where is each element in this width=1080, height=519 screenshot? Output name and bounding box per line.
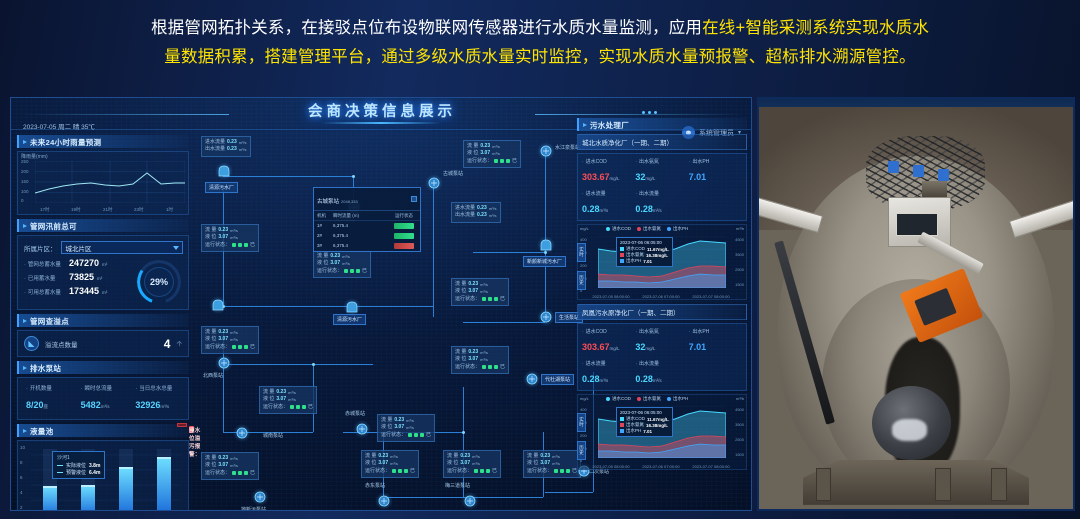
tag-status-key: 运行状态： — [455, 364, 480, 371]
pipe-stats-wrap: 管网总蓄水量 247270 m³ 已用蓄水量 73825 m³ 可用总蓄水量 1… — [18, 257, 188, 309]
node-pump[interactable] — [215, 354, 233, 372]
table-row[interactable]: 1# 6,375.4 — [314, 221, 420, 231]
right-panel: 污水处理厂 城北水质净化厂（一期、二期） 进水COD 303.67mg/L 出水… — [577, 118, 747, 505]
bar-cap — [43, 486, 57, 488]
chart-ytick: 400 — [580, 407, 587, 412]
status-leds — [482, 365, 498, 369]
tag-unit: m³/s — [230, 456, 238, 462]
node-plant[interactable] — [215, 162, 233, 180]
pump-station-card: 开机数量 8/20座 瞬时总流量 5482m³/s 当日总水总量 32926m³… — [17, 377, 189, 420]
tooltip-title: 沙河1 — [57, 454, 100, 461]
tag-row: 液 位 3.07 m³/s — [205, 336, 255, 343]
inout-flow-tag[interactable]: 进水流量 0.23 m³/s 出水流量 0.23 m³/s — [201, 136, 251, 157]
gauge-value: 29% — [144, 267, 174, 297]
flow-tag[interactable]: 流 量 0.23 m³/s 液 位 3.07 m³/s 运行状态： 已 — [313, 250, 371, 278]
tooltip-value: 7.01 — [643, 259, 652, 264]
tag-unit: m³/s — [492, 144, 500, 150]
tag-status-extra: 已 — [308, 404, 313, 411]
kpi-value: 0.28 — [635, 374, 653, 384]
chart-ytick-right: 4500 — [735, 237, 744, 242]
tag-status-extra: 已 — [500, 296, 505, 303]
section-header-node: 管网查溢点 — [17, 314, 189, 327]
chart-ylabel: mg/L — [580, 226, 589, 231]
kpi-cell: 进水流量 0.28m³/s — [582, 190, 635, 217]
status-badge[interactable]: 液水位溢污报警： 2 座 — [177, 423, 187, 427]
cell-id: 1# — [317, 223, 333, 230]
kpi-cell: 进水流量 0.28m³/s — [582, 360, 635, 387]
tag-status-row: 运行状态： 已 — [467, 158, 517, 165]
tag-status-key: 运行状态： — [381, 432, 406, 439]
pump-stat: 瞬时总流量 5482m³/s — [76, 384, 131, 413]
tag-unit: m³/s — [406, 418, 414, 424]
tooltip-value: 6.4m — [89, 470, 100, 476]
tag-row: 液 位 3.07 m³/s — [317, 260, 367, 267]
bar-ytick-6: 4 — [20, 490, 23, 495]
field-photo-manhole-sensor — [757, 97, 1075, 511]
tag-value: 3.07 — [276, 396, 286, 403]
chart-ylabel: mg/L — [580, 396, 589, 401]
overflow-label: 溢流点数量 — [45, 339, 158, 349]
status-leds — [232, 345, 248, 349]
region-selector-row: 所属片区： 城北片区 — [18, 236, 188, 257]
link — [473, 252, 545, 253]
rain-ytick-1: 200 — [21, 169, 29, 174]
tag-value: 0.23 — [477, 205, 487, 212]
node-plant[interactable] — [537, 236, 555, 254]
wwtp-area-chart: 进水COD 出水氨氮 出水PH mg/L m³/h 400 300 200 10… — [577, 224, 747, 300]
cell-status — [391, 233, 417, 240]
mounting-bracket — [922, 181, 947, 197]
tag-value: 3.07 — [480, 150, 490, 157]
tag-unit: m³/s — [489, 213, 497, 219]
rain-ytick-0: 250 — [21, 159, 29, 164]
kpi-cell: 出水流量 0.28m³/s — [635, 190, 688, 217]
pump-stats: 开机数量 8/20座 瞬时总流量 5482m³/s 当日总水总量 32926m³… — [18, 378, 188, 419]
tag-value: 0.23 — [468, 281, 478, 288]
cable-connector — [888, 161, 899, 173]
tag-value: 3.07 — [394, 424, 404, 431]
tag-status-row: 运行状态： 已 — [455, 364, 505, 371]
chart-tooltip: 2023-07-06 06:05:00 进水COD11.67mg/L 出水氨氮1… — [616, 237, 673, 267]
cell-id: 3# — [317, 243, 333, 250]
rain-chart-svg — [35, 161, 185, 203]
pump-value: 8/20 — [26, 400, 44, 410]
section-header-rain: 未来24小时雨量预测 — [17, 135, 189, 148]
tag-unit: m³/s — [230, 337, 238, 343]
flow-tag[interactable]: 流 量 0.23 m³/s 液 位 3.07 m³/s 运行状态： 已 — [361, 450, 419, 478]
kpi-unit: m³/s — [600, 208, 609, 213]
pipe-network-topology: 进水流量 0.23 m³/s 出水流量 0.23 m³/s 清源污水厂 月洞泵站… — [193, 132, 575, 504]
legend-swatch — [57, 472, 63, 473]
tag-status-extra: 已 — [250, 242, 255, 249]
inout-flow-tag[interactable]: 进水流量 0.23 m³/s 出水流量 0.23 m³/s — [451, 202, 501, 223]
tooltip-value: 11.67mg/L — [647, 417, 669, 422]
tag-key: 液 位 — [527, 460, 538, 467]
kpi-value: 303.67 — [582, 172, 610, 182]
chart-xtick: 2023-07-07 08:00:00 — [690, 294, 732, 299]
status-leds — [232, 471, 248, 475]
tag-row: 出水流量 0.23 m³/s — [205, 146, 247, 153]
kpi-row-top: 进水COD 303.67mg/L 出水氨氮 32mg/L 出水PH 7.01 — [582, 328, 742, 355]
bar-ytick-8: 2 — [20, 505, 23, 510]
cell-status — [391, 243, 417, 250]
node-pump[interactable] — [375, 492, 393, 510]
tag-value: 0.23 — [330, 253, 340, 260]
pump-detail-table[interactable]: 古城泵站2048.333 机机 瞬时流量 (m) 运行状态 1# 6,375.4… — [313, 187, 421, 252]
chart-ytick-right: 3500 — [735, 252, 744, 257]
stat-value: 73825 — [69, 272, 94, 282]
node-label-pump: 古城泵站 — [443, 170, 463, 177]
tag-value: 3.07 — [218, 234, 228, 241]
tag-status-extra: 已 — [500, 364, 505, 371]
flow-tag[interactable]: 流 量 0.23 m³/s 液 位 3.07 m³/s 运行状态： 已 — [201, 224, 259, 252]
bar-fill — [81, 485, 95, 511]
rain-ytick-3: 100 — [21, 189, 29, 194]
tooltip-title: 2023-07-06 06:05:00 — [620, 240, 669, 245]
tooltip-name: 预警液位 — [66, 469, 86, 476]
table-title: 古城泵站 — [317, 199, 339, 205]
caption-line-1-white: 根据管网拓扑关系，在接驳点位布设物联网传感器进行水质水量监测，应用 — [151, 19, 702, 37]
tag-status-row: 运行状态： 已 — [205, 470, 255, 477]
caption-line-2: 量数据积累，搭建管理平台，通过多级水质水量实时监控，实现水质水量预报警、超标排水… — [18, 43, 1062, 72]
flow-tag[interactable]: 流 量 0.23 m³/s 液 位 3.07 m³/s 运行状态： 已 — [451, 278, 509, 306]
pipe-stats-list: 管网总蓄水量 247270 m³ 已用蓄水量 73825 m³ 可用总蓄水量 1… — [24, 258, 137, 304]
chart-tab-history[interactable]: 历史 — [577, 441, 586, 460]
pump-value: 5482 — [81, 400, 101, 410]
caption-line-1-yellow: 在线+智能采测系统实现水质水 — [702, 19, 929, 37]
rain-xtick-1: 19时 — [71, 207, 81, 213]
water-level-card: 10 8 6 4 2 0 — [17, 440, 189, 511]
tag-key: 液 位 — [263, 396, 274, 403]
tag-status-row: 运行状态： 已 — [263, 404, 313, 411]
tag-unit: m³/s — [230, 463, 238, 469]
rain-forecast-card: 降雨量(mm) 250 200 150 100 0 — [17, 151, 189, 215]
kpi-row-bottom: 进水流量 0.28m³/s 出水流量 0.28m³/s — [582, 190, 742, 217]
junction-dot — [352, 175, 355, 178]
bar-cap — [119, 467, 133, 469]
kpi-unit: m³/s — [653, 208, 662, 213]
dashboard-screen: 会商决策信息展示 ☻ 系统管理员 ▾ 2023-07-05 周二 晴 35℃ 未… — [10, 97, 752, 511]
chart-tab-realtime[interactable]: 实时 — [577, 243, 586, 262]
region-label: 所属片区： — [24, 243, 57, 253]
status-leds — [494, 159, 510, 163]
kpi-value: 0.28 — [635, 204, 653, 214]
pump-stat: 开机数量 8/20座 — [21, 384, 76, 413]
tag-value: 0.23 — [218, 455, 228, 462]
status-leds — [232, 243, 248, 247]
caption-line-1: 根据管网拓扑关系，在接驳点位布设物联网传感器进行水质水量监测，应用在线+智能采测… — [18, 14, 1062, 43]
tag-value: 0.23 — [227, 146, 237, 153]
legend-item[interactable]: 出水氨氮 — [637, 226, 661, 232]
kpi-cell: 进水COD 303.67mg/L — [582, 158, 635, 185]
legend-item[interactable]: 出水氨氮 — [637, 396, 661, 402]
kpi-cell: 出水PH 7.01 — [689, 328, 742, 355]
stat-unit: m³ — [102, 290, 107, 295]
tag-status-key: 运行状态： — [205, 470, 230, 477]
chart-xtick: 2023-07-05 08:00:00 — [590, 464, 632, 469]
chart-ytick: 400 — [580, 237, 587, 242]
tooltip-value: 3.8m — [89, 463, 100, 469]
column-header: 运行状态 — [391, 213, 417, 219]
tag-value: 0.23 — [477, 212, 487, 219]
table-row[interactable]: 2# 6,375.4 — [314, 231, 420, 241]
legend-swatch — [620, 417, 624, 421]
tooltip-row: 出水PH7.01 — [620, 258, 669, 264]
kpi-unit: mg/L — [645, 176, 655, 181]
tag-status-row: 运行状态： 已 — [447, 468, 497, 475]
status-leds — [290, 405, 306, 409]
legend-swatch — [620, 253, 624, 257]
legend-item[interactable]: 进水COD — [606, 226, 631, 232]
tag-unit: m³/s — [406, 425, 414, 431]
table-subtitle: 2048.333 — [341, 199, 358, 204]
tag-key: 液 位 — [455, 288, 466, 295]
kpi-key: 进水流量 — [582, 190, 635, 197]
wwtp-title: 城北水质净化厂（一期、二期） — [577, 134, 747, 150]
node-plant[interactable] — [343, 298, 361, 316]
flow-tag[interactable]: 流 量 0.23 m³/s 液 位 3.07 m³/s 运行状态： 已 — [523, 450, 581, 478]
chart-legend: 进水COD 出水氨氮 出水PH — [606, 396, 688, 402]
flow-tag[interactable]: 流 量 0.23 m³/s 液 位 3.07 m³/s 运行状态： 已 — [377, 414, 435, 442]
cell-flow: 6,375.4 — [333, 233, 391, 240]
column-header: 机机 — [317, 213, 333, 219]
tag-row: 液 位 3.07 m³/s — [467, 150, 517, 157]
tag-status-extra: 已 — [426, 432, 431, 439]
pump-key: 当日总水总量 — [135, 384, 185, 392]
link — [463, 387, 464, 497]
node-pump[interactable] — [233, 424, 251, 442]
rain-ytick-5: 0 — [21, 198, 24, 203]
section-header-pipe: 管网汛前总可 — [17, 219, 189, 232]
rain-xtick-3: 23时 — [134, 207, 144, 213]
ledge-bar — [935, 468, 951, 501]
status-leds — [408, 433, 424, 437]
tag-key: 液 位 — [455, 356, 466, 363]
node-pump[interactable] — [537, 308, 555, 326]
rain-ytick-2: 150 — [21, 179, 29, 184]
status-pill — [394, 233, 414, 239]
tag-status-extra: 已 — [362, 268, 367, 275]
kpi-cell: 出水PH 7.01 — [689, 158, 742, 185]
chevron-down-icon — [173, 246, 179, 250]
flow-tag[interactable]: 流 量 0.23 m³/s 液 位 3.07 m³/s 运行状态： 已 — [201, 452, 259, 480]
chart-legend: 进水COD 出水氨氮 出水PH — [606, 226, 688, 232]
kpi-value: 303.67 — [582, 342, 610, 352]
chart-tab-history[interactable]: 历史 — [577, 271, 586, 290]
flow-tag[interactable]: 流 量 0.23 m³/s 液 位 3.07 m³/s 运行状态： 已 — [201, 326, 259, 354]
legend-swatch — [620, 247, 624, 251]
kpi-cell: 出水氨氮 32mg/L — [635, 158, 688, 185]
ledge-bar — [816, 468, 832, 501]
close-icon[interactable] — [411, 196, 417, 202]
tag-row: 液 位 3.07 m³/s — [455, 356, 505, 363]
tag-value: 0.23 — [480, 143, 490, 150]
kpi-key: 出水流量 — [635, 360, 688, 367]
tag-status-key: 运行状态： — [263, 404, 288, 411]
node-label-pump: 梅三道泵站 — [445, 482, 470, 489]
legend-swatch — [620, 429, 624, 433]
tag-unit: m³/s — [552, 461, 560, 467]
tag-unit: m³/s — [552, 454, 560, 460]
kpi-unit: mg/L — [645, 346, 655, 351]
tag-key: 液 位 — [205, 462, 216, 469]
tooltip-value: 16.38mg/L — [646, 253, 668, 258]
section-header-pump: 排水泵站 — [17, 361, 189, 374]
legend-item[interactable]: 出水PH — [667, 396, 688, 402]
legend-item[interactable]: 进水COD — [606, 396, 631, 402]
tooltip-value: 11.67mg/L — [647, 247, 669, 252]
stat-row: 已用蓄水量 73825 m³ — [24, 272, 137, 282]
tag-row: 液 位 3.07 m³/s — [205, 234, 255, 241]
level-bar-chart: 10 8 6 4 2 0 — [18, 441, 188, 511]
tag-key: 液 位 — [447, 460, 458, 467]
tag-status-key: 运行状态： — [317, 268, 342, 275]
overflow-node-card: ◣ 溢流点数量 4 个 — [17, 330, 189, 357]
stat-row: 管网总蓄水量 247270 m³ — [24, 258, 137, 268]
node-label-pump: 地新污泵站 — [241, 506, 266, 511]
tag-unit: m³/s — [480, 289, 488, 295]
status-leds — [474, 469, 490, 473]
bar-column[interactable] — [157, 447, 171, 511]
tag-value: 3.07 — [540, 460, 550, 467]
cell-flow: 6,375.4 — [333, 243, 391, 250]
tag-key: 出水流量 — [205, 146, 225, 153]
tooltip-row: 出水PH7.01 — [620, 428, 669, 434]
tag-unit: m³/s — [390, 461, 398, 467]
tag-value: 0.23 — [394, 417, 404, 424]
stat-value: 173445 — [69, 286, 99, 296]
chart-ytick: 200 — [580, 263, 587, 268]
chart-xtick: 2023-07-06 07:00:00 — [640, 464, 682, 469]
bar-column[interactable] — [119, 447, 133, 511]
tag-unit: m³/s — [492, 151, 500, 157]
tag-value: 3.07 — [330, 260, 340, 267]
tag-unit: m³/s — [288, 397, 296, 403]
table-row[interactable]: 3# 6,375.4 — [314, 241, 420, 251]
tooltip-title: 2023-07-06 06:05:00 — [620, 410, 669, 415]
cell-status — [391, 223, 417, 230]
tag-key: 液 位 — [467, 150, 478, 157]
stat-value: 247270 — [69, 258, 99, 268]
tag-row: 液 位 3.07 m³/s — [455, 288, 505, 295]
tag-key: 液 位 — [205, 234, 216, 241]
stat-key: 可用总蓄水量 — [24, 288, 66, 296]
region-select[interactable]: 城北片区 — [61, 241, 184, 254]
tag-value: 0.23 — [378, 453, 388, 460]
drop-icon: ◣ — [24, 336, 39, 351]
tag-value: 3.07 — [378, 460, 388, 467]
flow-tag[interactable]: 流 量 0.23 m³/s 液 位 3.07 m³/s 运行状态： 已 — [443, 450, 501, 478]
node-pump[interactable] — [461, 492, 479, 510]
tag-row: 液 位 3.07 m³/s — [205, 462, 255, 469]
node-plant[interactable] — [209, 296, 227, 314]
capacity-gauge: 29% — [137, 260, 181, 304]
tag-status-row: 运行状态： 已 — [205, 242, 255, 249]
tag-status-key: 运行状态： — [205, 344, 230, 351]
kpi-key: 出水氨氮 — [635, 328, 688, 335]
junction-dot — [312, 363, 315, 366]
tag-status-key: 运行状态： — [447, 468, 472, 475]
node-pump[interactable] — [425, 174, 443, 192]
chart-ytick-right: 4500 — [735, 407, 744, 412]
node-pump[interactable] — [537, 142, 555, 160]
wwtp-title: 凤凰污水原净化厂（一期、二期） — [577, 304, 747, 320]
ledge-bar — [991, 468, 1007, 501]
node-pump[interactable] — [523, 370, 541, 388]
status-leds — [392, 469, 408, 473]
flow-tag[interactable]: 流 量 0.23 m³/s 液 位 3.07 m³/s 运行状态： 已 — [259, 386, 317, 414]
tooltip-name: 出水PH — [626, 258, 641, 264]
node-label-pump: 赤城泵站 — [345, 410, 365, 417]
wwtp-panel-1: 城北水质净化厂（一期、二期） 进水COD 303.67mg/L 出水氨氮 32m… — [577, 134, 747, 300]
tag-unit: m³/s — [480, 357, 488, 363]
wwtp-area-chart: 进水COD 出水氨氮 出水PH mg/L m³/h 400 300 200 10… — [577, 394, 747, 470]
kpi-unit: mg/L — [610, 176, 620, 181]
link — [433, 182, 434, 317]
table-header: 古城泵站2048.333 — [314, 188, 420, 211]
caption-block: 根据管网拓扑关系，在接驳点位布设物联网传感器进行水质水量监测，应用在线+智能采测… — [0, 0, 1080, 95]
chart-ytick: 200 — [580, 433, 587, 438]
node-label-pump: 北西泵站 — [203, 372, 223, 379]
tag-key: 液 位 — [317, 260, 328, 267]
chart-tab-realtime[interactable]: 实时 — [577, 413, 586, 432]
tag-status-key: 运行状态： — [455, 296, 480, 303]
bar-chart-tooltip: 沙河1 实际液位 3.8m 预警液位 6.4m — [52, 451, 105, 479]
node-pump[interactable] — [251, 488, 269, 506]
tag-status-key: 运行状态： — [527, 468, 552, 475]
section-header-wwtp: 污水处理厂 — [577, 118, 747, 131]
chart-ytick-right: 3500 — [735, 422, 744, 427]
link — [223, 176, 353, 177]
node-label-plant: 清源污水厂 — [205, 182, 238, 193]
tag-value: 3.07 — [218, 336, 228, 343]
chart-ytick-right: 1500 — [735, 452, 744, 457]
wwtp-kpi-block: 进水COD 303.67mg/L 出水氨氮 32mg/L 出水PH 7.01 进… — [577, 323, 747, 391]
tag-value: 3.07 — [218, 462, 228, 469]
kpi-value: 7.01 — [689, 342, 707, 352]
tag-status-row: 运行状态： 已 — [317, 268, 367, 275]
tag-row: 液 位 3.07 m³/s — [527, 460, 577, 467]
kpi-key: 出水氨氮 — [635, 158, 688, 165]
flow-tag[interactable]: 流 量 0.23 m³/s 液 位 3.07 m³/s 运行状态： 已 — [463, 140, 521, 168]
tag-value: 0.23 — [218, 227, 228, 234]
tag-key: 液 位 — [205, 336, 216, 343]
bar-fill — [43, 486, 57, 511]
flow-tag[interactable]: 流 量 0.23 m³/s 液 位 3.07 m³/s 运行状态： 已 — [451, 346, 509, 374]
left-panel: 2023-07-05 周二 晴 35℃ 未来24小时雨量预测 降雨量(mm) — [17, 118, 189, 505]
legend-item[interactable]: 出水PH — [667, 226, 688, 232]
tag-unit: m³/s — [480, 282, 488, 288]
tag-status-extra: 已 — [250, 470, 255, 477]
tag-status-key: 运行状态： — [205, 242, 230, 249]
chart-ytick-right: 1500 — [735, 282, 744, 287]
rain-line-chart: 降雨量(mm) 250 200 150 100 0 — [18, 152, 188, 214]
kpi-value: 7.01 — [689, 172, 707, 182]
kpi-row-bottom: 进水流量 0.28m³/s 出水流量 0.28m³/s — [582, 360, 742, 387]
kpi-value: 32 — [635, 342, 645, 352]
cell-flow: 6,375.4 — [333, 223, 391, 230]
pump-unit: 座 — [44, 404, 49, 409]
node-pump[interactable] — [353, 420, 371, 438]
status-leds — [482, 297, 498, 301]
status-leds — [554, 469, 570, 473]
tag-value: 0.23 — [540, 453, 550, 460]
cell-id: 2# — [317, 233, 333, 240]
tag-key: 液 位 — [365, 460, 376, 467]
pump-stat: 当日总水总量 32926m³/s — [130, 384, 185, 413]
pump-key: 瞬时总流量 — [81, 384, 131, 392]
tag-value: 0.23 — [276, 389, 286, 396]
